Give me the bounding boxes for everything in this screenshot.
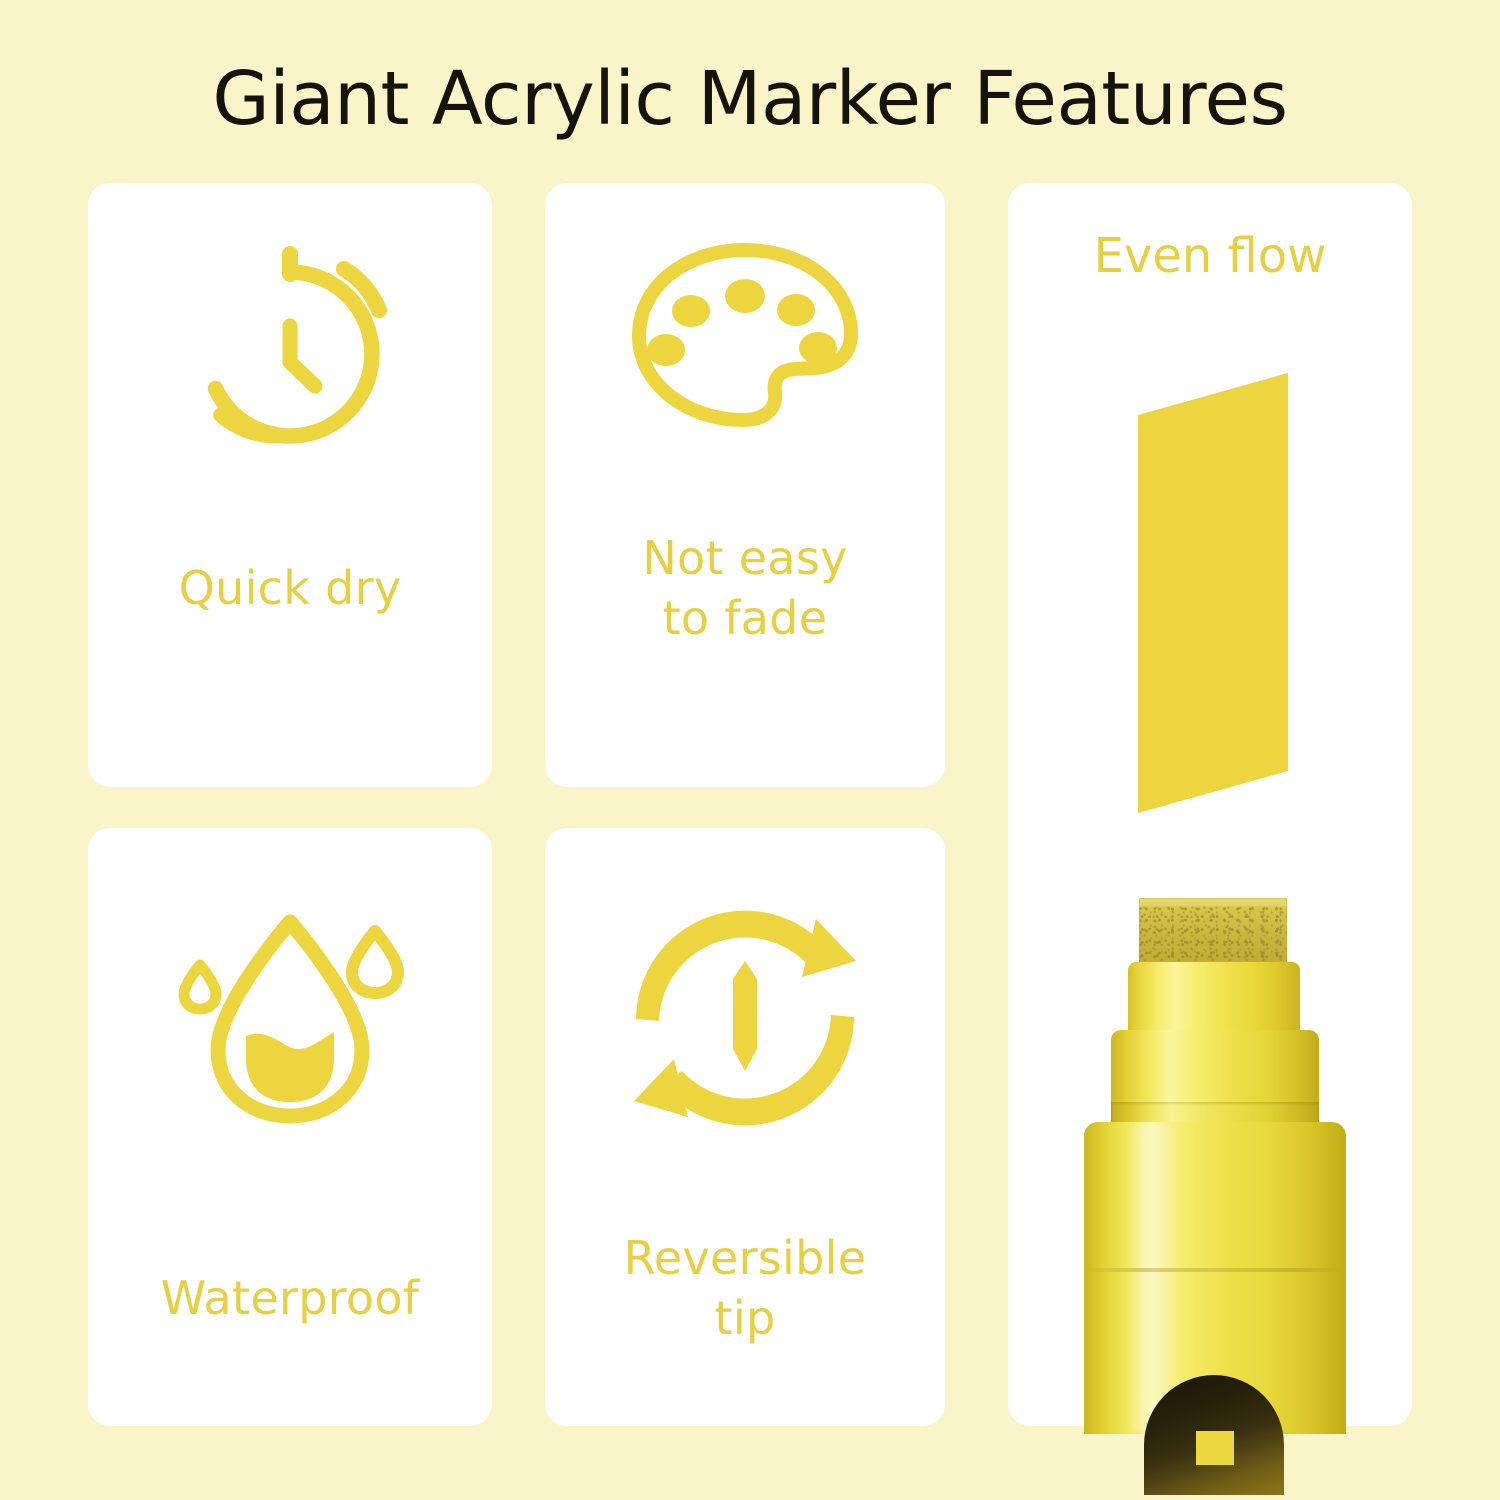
feature-label-quick-dry: Quick dry — [88, 558, 492, 618]
reversible-arrows-icon — [545, 903, 945, 1133]
feature-label-not-easy-to-fade: Not easy to fade — [545, 528, 945, 648]
infographic-page: Giant Acrylic Marker Features — [0, 0, 1500, 1500]
feature-card-waterproof: Waterproof — [88, 828, 492, 1426]
marker-window-chip — [1196, 1431, 1234, 1465]
stopwatch-icon — [88, 238, 492, 470]
feature-label-line-1: Reversible — [545, 1228, 945, 1288]
feature-label-line-2: to fade — [545, 588, 945, 648]
feature-label-reversible-tip: Reversible tip — [545, 1228, 945, 1348]
feature-card-even-flow: Even flow — [1008, 183, 1412, 1426]
feature-label-line-2: tip — [545, 1288, 945, 1348]
feature-label-even-flow: Even flow — [1008, 227, 1412, 285]
water-droplet-icon — [88, 908, 492, 1128]
feature-label-line-1: Not easy — [545, 528, 945, 588]
marker-stroke-swatch — [1138, 373, 1288, 813]
feature-card-not-easy-to-fade: Not easy to fade — [545, 183, 945, 787]
feature-label-waterproof: Waterproof — [88, 1268, 492, 1328]
feature-card-reversible-tip: Reversible tip — [545, 828, 945, 1426]
paint-palette-icon — [545, 238, 945, 438]
page-title: Giant Acrylic Marker Features — [0, 56, 1500, 142]
feature-card-quick-dry: Quick dry — [88, 183, 492, 787]
